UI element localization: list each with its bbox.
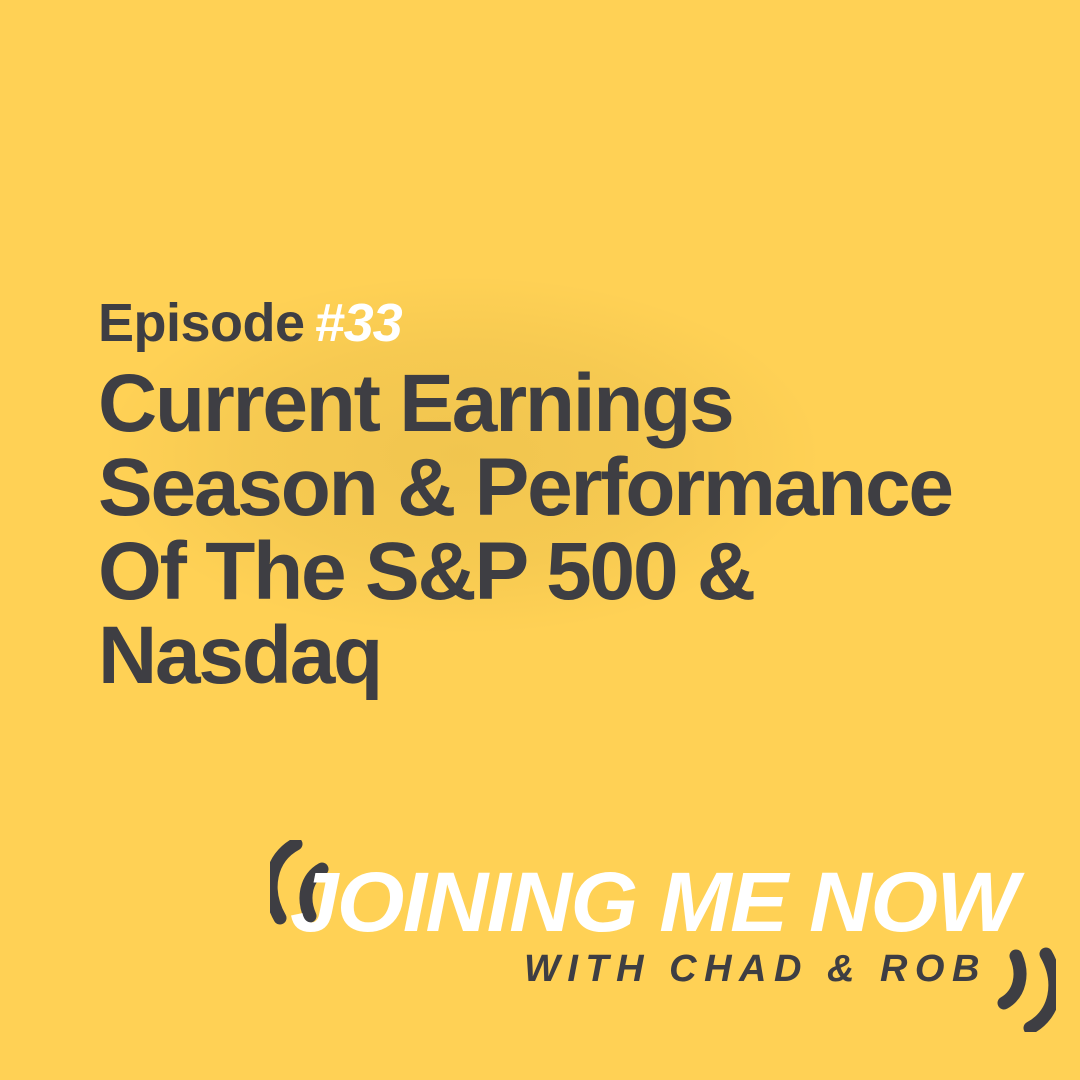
show-logo: JOINING ME NOW WITH CHAD & ROB bbox=[262, 838, 1052, 1028]
episode-title: Current Earnings Season & Performance Of… bbox=[98, 362, 998, 698]
sound-wave-icon-right bbox=[980, 946, 1056, 1032]
title-line-3: Of The S&P 500 & bbox=[98, 530, 998, 614]
episode-number: #33 bbox=[315, 293, 402, 353]
podcast-cover-art: Episode#33 Current Earnings Season & Per… bbox=[0, 0, 1080, 1080]
title-line-2: Season & Performance bbox=[98, 446, 998, 530]
title-line-4: Nasdaq bbox=[98, 614, 998, 698]
episode-label: Episode bbox=[98, 293, 305, 353]
title-line-1: Current Earnings bbox=[98, 362, 998, 446]
show-tagline: WITH CHAD & ROB bbox=[524, 950, 987, 988]
episode-label-row: Episode#33 bbox=[98, 296, 402, 350]
show-name: JOINING ME NOW bbox=[290, 860, 1017, 944]
